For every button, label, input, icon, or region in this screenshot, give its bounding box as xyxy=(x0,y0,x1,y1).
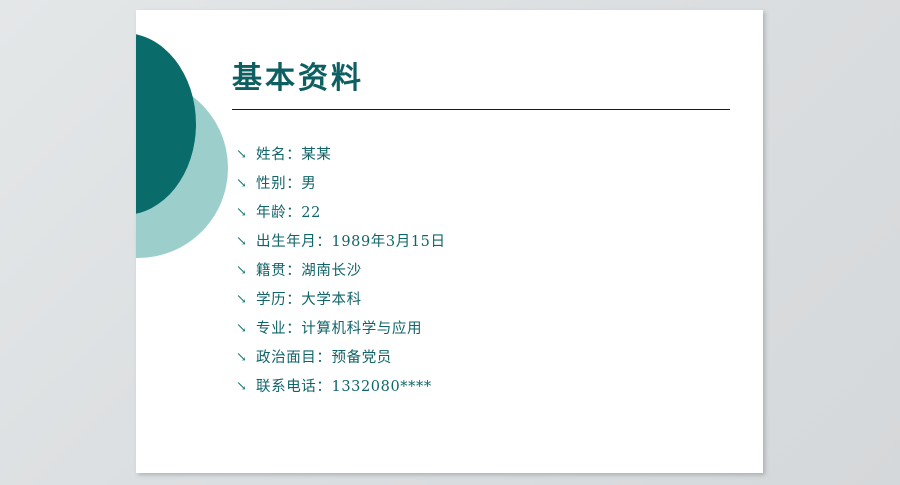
arrow-down-right-icon: ↘ xyxy=(236,148,256,161)
decorative-circle-dark xyxy=(136,33,196,215)
list-item-text: 出生年月：1989年3月15日 xyxy=(256,230,446,251)
arrow-down-right-icon: ↘ xyxy=(236,264,256,277)
list-item: ↘ 学历：大学本科 xyxy=(236,288,736,317)
slide-canvas: 基本资料 ↘ 姓名：某某 ↘ 性别：男 ↘ 年龄：22 ↘ 出生年月：1989年… xyxy=(136,10,763,473)
list-item-text: 籍贯：湖南长沙 xyxy=(256,259,362,280)
arrow-down-right-icon: ↘ xyxy=(236,235,256,248)
list-item: ↘ 政治面目：预备党员 xyxy=(236,346,736,375)
arrow-down-right-icon: ↘ xyxy=(236,380,256,393)
list-item-text: 联系电话：1332080**** xyxy=(256,375,432,396)
arrow-down-right-icon: ↘ xyxy=(236,206,256,219)
list-item: ↘ 年龄：22 xyxy=(236,201,736,230)
list-item-text: 学历：大学本科 xyxy=(256,288,362,309)
presentation-viewport: 基本资料 ↘ 姓名：某某 ↘ 性别：男 ↘ 年龄：22 ↘ 出生年月：1989年… xyxy=(0,0,900,485)
info-list: ↘ 姓名：某某 ↘ 性别：男 ↘ 年龄：22 ↘ 出生年月：1989年3月15日… xyxy=(236,143,736,404)
list-item: ↘ 出生年月：1989年3月15日 xyxy=(236,230,736,259)
page-title: 基本资料 xyxy=(232,60,732,98)
arrow-down-right-icon: ↘ xyxy=(236,177,256,190)
list-item: ↘ 籍贯：湖南长沙 xyxy=(236,259,736,288)
list-item-text: 姓名：某某 xyxy=(256,143,332,164)
list-item: ↘ 姓名：某某 xyxy=(236,143,736,172)
list-item-text: 专业：计算机科学与应用 xyxy=(256,317,422,338)
list-item-text: 政治面目：预备党员 xyxy=(256,346,392,367)
list-item: ↘ 联系电话：1332080**** xyxy=(236,375,736,404)
title-divider xyxy=(232,109,730,110)
decorative-circle-light xyxy=(136,78,228,258)
list-item-text: 年龄：22 xyxy=(256,201,321,222)
list-item-text: 性别：男 xyxy=(256,172,316,193)
arrow-down-right-icon: ↘ xyxy=(236,322,256,335)
arrow-down-right-icon: ↘ xyxy=(236,351,256,364)
arrow-down-right-icon: ↘ xyxy=(236,293,256,306)
list-item: ↘ 性别：男 xyxy=(236,172,736,201)
title-block: 基本资料 xyxy=(232,60,732,110)
list-item: ↘ 专业：计算机科学与应用 xyxy=(236,317,736,346)
